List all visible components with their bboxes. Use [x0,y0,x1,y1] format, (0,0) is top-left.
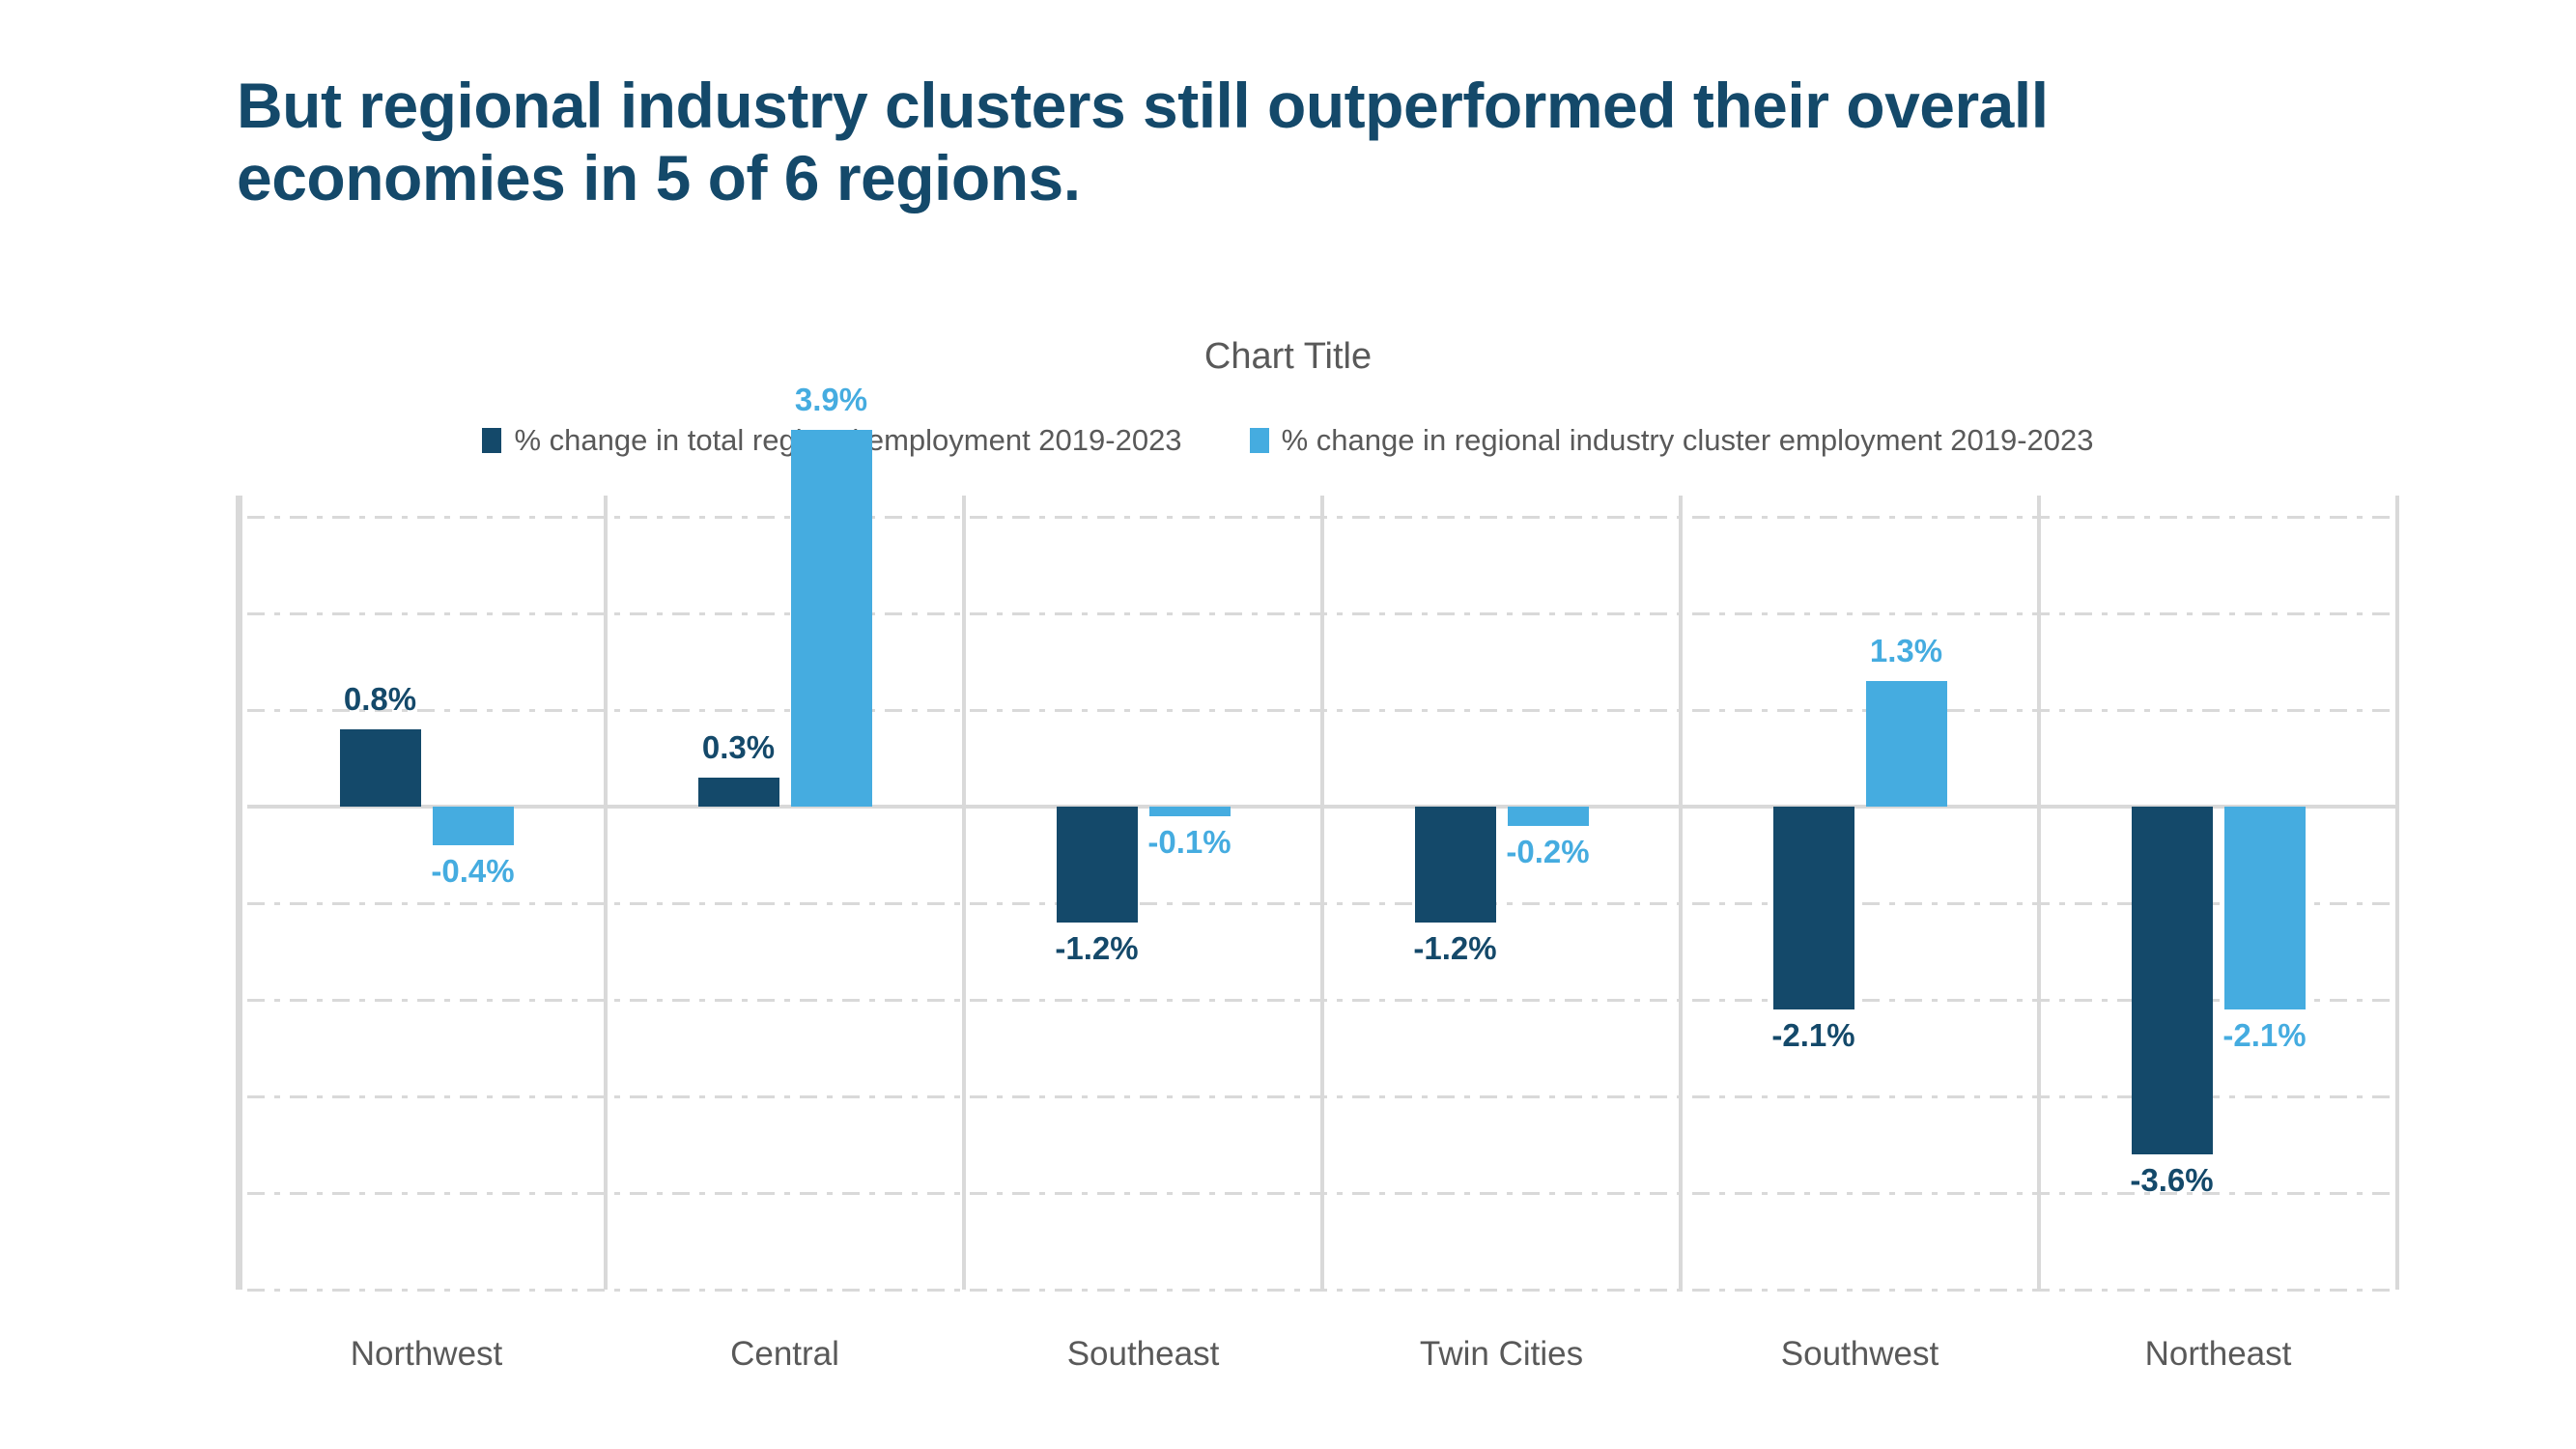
bar[interactable] [698,778,779,807]
bar[interactable] [433,807,514,845]
bar-value-label: 1.3% [1808,633,2005,669]
bar[interactable] [2224,807,2306,1009]
x-axis-label-southeast: Southeast [964,1335,1322,1374]
category-separator [1320,496,1324,1290]
bar-value-label: -2.1% [2166,1017,2364,1054]
legend-item-cluster-employment[interactable]: % change in regional industry cluster em… [1250,423,2094,458]
square-swatch-icon [1250,428,1269,453]
bar[interactable] [1773,807,1854,1009]
category-separator [2037,496,2041,1290]
x-axis-label-northeast: Northeast [2039,1335,2397,1374]
bar-value-label: -0.1% [1091,824,1288,861]
bar-value-label: -2.1% [1715,1017,1912,1054]
bar-value-label: -3.6% [2074,1162,2271,1199]
legend-item-label: % change in regional industry cluster em… [1282,423,2094,458]
chart-title: Chart Title [0,336,2576,378]
bar-value-label: -1.2% [1357,930,1554,967]
category-separator [2395,496,2399,1290]
x-axis-label-central: Central [606,1335,964,1374]
bar[interactable] [1508,807,1589,826]
bar-value-label: -0.2% [1450,834,1647,870]
bar-value-label: 0.8% [282,681,479,718]
bar[interactable] [340,729,421,807]
bar[interactable] [1866,681,1947,807]
bar[interactable] [791,430,872,807]
category-separator [604,496,608,1290]
square-swatch-icon [482,428,501,453]
bar-value-label: -0.4% [375,853,572,890]
chart-legend: % change in total regional employment 20… [0,423,2576,458]
x-axis-label-northwest: Northwest [247,1335,606,1374]
bar-value-label: -1.2% [999,930,1196,967]
x-axis-label-twin-cities: Twin Cities [1322,1335,1681,1374]
category-separator [1679,496,1683,1290]
x-axis-label-southwest: Southwest [1681,1335,2039,1374]
bar[interactable] [2132,807,2213,1154]
bar-value-label: 3.9% [733,382,930,418]
chart-figure: Chart Title % change in total regional e… [0,0,2576,1449]
y-axis-line [236,496,242,1290]
bar[interactable] [1149,807,1231,816]
plot-area: 0.8%-0.4%0.3%3.9%-1.2%-0.1%-1.2%-0.2%-2.… [247,517,2397,1290]
category-separator [962,496,966,1290]
zero-baseline [247,805,2397,809]
